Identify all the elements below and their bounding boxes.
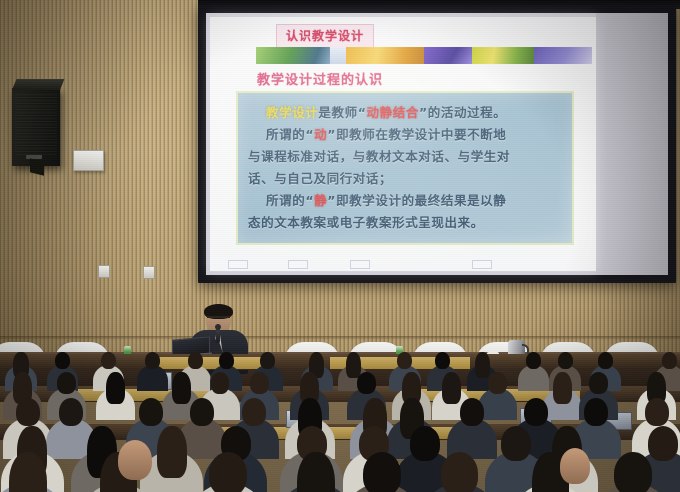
slide-body-line: 话、与自己及同行对话； [242,168,572,190]
slide-body-run: 即教师在教学设计中要不断地 [336,127,506,142]
lecture-hall-photo: 认识教学设计 教学设计过程的认识 教学设计是教师“动静结合”的活动过程。所谓的“… [0,0,680,492]
slide-body-line: 教学设计是教师“动静结合”的活动过程。 [242,102,572,124]
slide-subtitle: 教学设计过程的认识 [257,69,383,88]
audience-person-head [441,452,479,492]
photo-strip-cell-purple [424,47,472,64]
slide-body-run: 态的文本教案或电子教案形式呈现出来。 [248,215,484,230]
audience-person-head [589,372,608,394]
audience-person-head [363,452,401,492]
audience-person-head [188,352,203,369]
arrow-icon-1 [228,260,248,269]
photo-strip-gap-1 [330,47,346,64]
audience-person-head [101,352,116,369]
seated-audience [0,352,680,492]
desk-surface [150,357,270,369]
slide-body-run: ” [419,105,428,120]
audience-person-head [614,452,652,492]
speaker-grille [15,94,57,156]
presentation-slide: 认识教学设计 教学设计过程的认识 教学设计是教师“动静结合”的活动过程。所谓的“… [210,17,596,271]
audience-person-head [526,352,541,369]
audience-person-head [157,426,187,478]
screen-surface: 认识教学设计 教学设计过程的认识 教学设计是教师“动静结合”的活动过程。所谓的“… [206,13,668,275]
audience-person-head [442,372,461,404]
slide-body-run: 所谓的 [266,193,305,208]
audience-person-head [139,398,163,426]
audience-person-head [475,352,490,378]
audience-person-head [260,352,275,369]
audience-person-head [558,352,573,369]
screen-unlit-area [596,13,668,275]
presenter-glasses-icon [207,316,230,323]
audience-person-head [553,372,572,404]
slide-body-run: 静 [314,193,327,208]
audience-person-head [242,398,266,426]
audience-person-head [172,372,191,404]
wall-switch-left[interactable] [98,265,110,278]
audience-person-head [59,398,83,426]
slide-arrow-decorations [210,259,596,269]
slide-body-panel: 教学设计是教师“动静结合”的活动过程。所谓的“动”即教师在教学设计中要不断地与课… [236,91,574,245]
audience-person-head [501,426,531,461]
audience-person-head [219,352,234,369]
microphone-icon [216,328,220,343]
audience-person-head [16,398,40,426]
speaker-icon [12,88,60,166]
arrow-icon-4 [472,260,492,269]
arrow-icon-2 [288,260,308,269]
audience-person-head [106,372,125,404]
decorative-photo-strip [256,47,592,64]
audience-person-head [648,426,678,461]
audience-person-head [488,372,507,394]
slide-body-line: 与课程标准对话，与教材文本对话、与学生对 [242,146,572,168]
audience-person-head [190,398,214,426]
audience-person-head [397,352,412,369]
slide-body-line: 态的文本教案或电子教案形式呈现出来。 [242,212,572,234]
audience-person-head [357,372,376,394]
audience-person-head [211,372,230,394]
audience-person-head [209,452,247,492]
wall-panel [73,150,104,171]
audience-person-face [560,448,590,484]
audience-person-head [524,398,548,426]
slide-body-run: ” [327,193,336,208]
audience-person-head [645,398,669,426]
audience-person-head [55,352,70,369]
projection-screen: 认识教学设计 教学设计过程的认识 教学设计是教师“动静结合”的活动过程。所谓的“… [198,5,676,283]
photo-strip-cell-violet [534,47,592,64]
slide-body-run: 所谓的 [266,127,305,142]
slide-body-run: 话、与自己及同行对话； [248,171,392,186]
audience-person-head [598,352,613,369]
slide-body-run: “ [305,193,314,208]
photo-strip-cell-green [256,47,330,64]
slide-title-chip: 认识教学设计 [276,24,374,49]
slide-body-run: 动 [314,127,327,142]
slide-body-run: 的活动过程。 [428,105,507,120]
stage-edge [0,336,680,340]
audience-person-face [118,440,152,480]
audience-person-head [662,352,677,369]
slide-title-text: 认识教学设计 [286,29,364,43]
slide-body-run: 教学设计 [266,105,318,120]
wall-shadow-left [0,0,150,380]
slide-body-run: 动静结合 [367,105,419,120]
slide-body-line: 所谓的“静”即教学设计的最终结果是以静 [242,190,572,212]
arrow-icon-3 [350,260,370,269]
audience-person-head [460,398,484,426]
wall-switch-right[interactable] [143,266,155,279]
slide-body-run: 是教师 [318,105,357,120]
slide-body-run: ” [327,127,336,142]
audience-person-head [145,352,160,369]
slide-body-text: 教学设计是教师“动静结合”的活动过程。所谓的“动”即教师在教学设计中要不断地与课… [238,93,572,234]
audience-person-head [435,352,450,369]
slide-body-run: 与课程标准对话，与教材文本对话、与学生对 [248,149,510,164]
audience-person-head [250,372,269,394]
audience-person-head [57,372,76,394]
audience-person-head [410,426,440,461]
slide-body-run: “ [358,105,367,120]
slide-body-line: 所谓的“动”即教师在教学设计中要不断地 [242,124,572,146]
photo-strip-cell-yellow [472,47,534,64]
photo-strip-cell-orange [346,47,424,64]
audience-person-head [584,398,608,426]
slide-body-run: “ [305,127,314,142]
slide-body-run: 即教学设计的最终结果是以静 [336,193,506,208]
